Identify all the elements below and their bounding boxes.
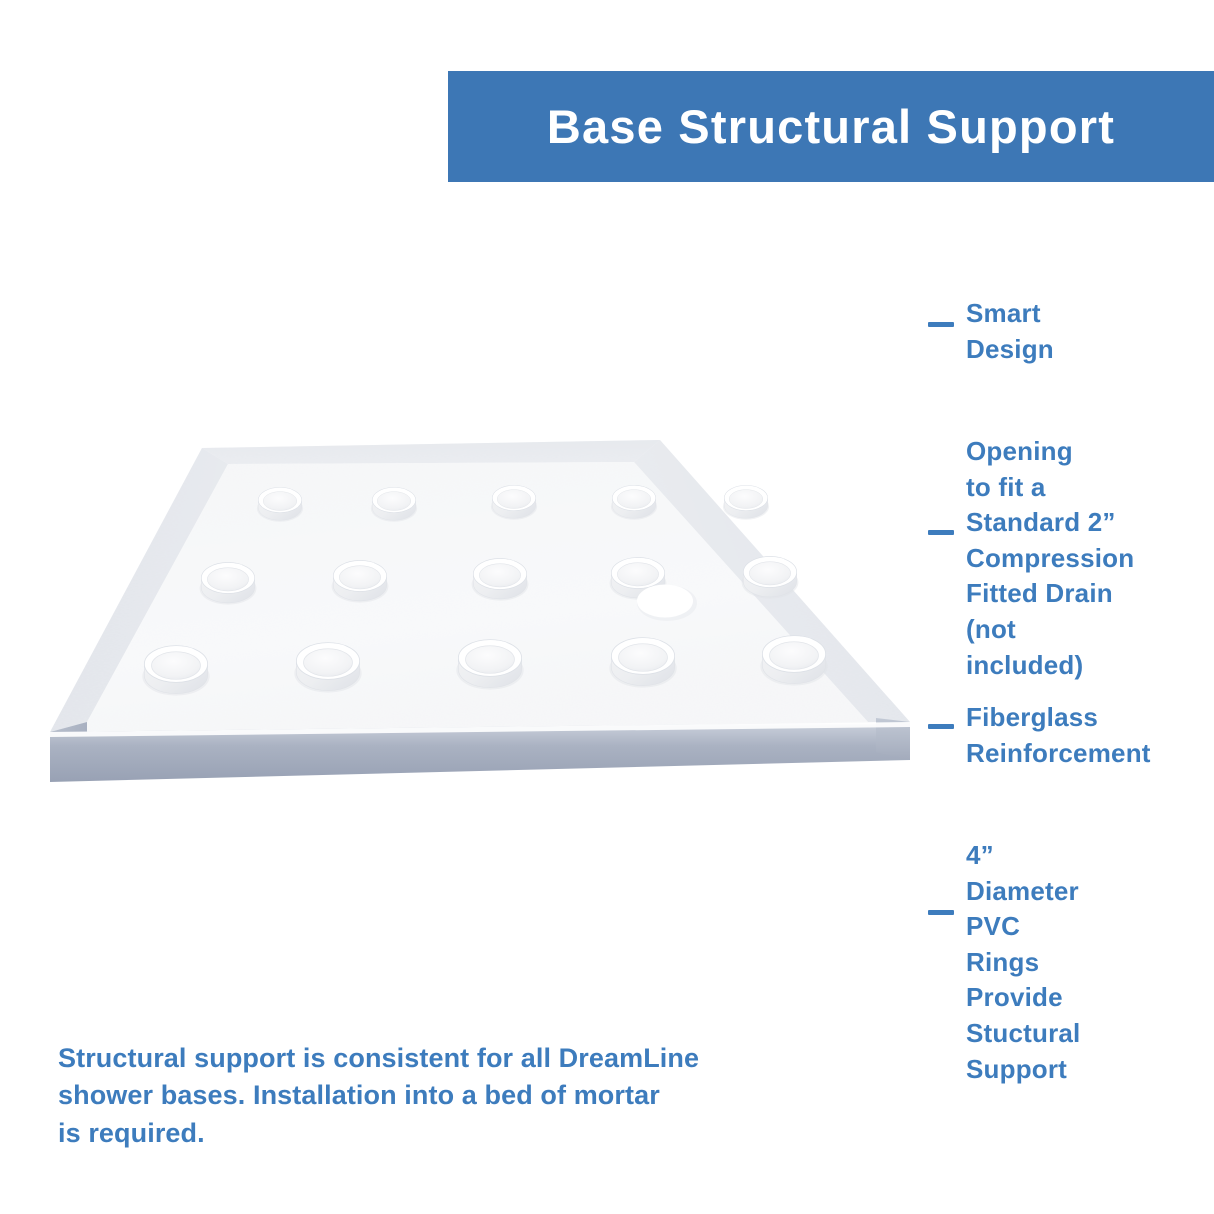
pvc-ring	[142, 646, 209, 696]
pvc-ring	[491, 485, 537, 519]
dash-marker-icon	[928, 322, 954, 327]
dash-marker-icon	[928, 724, 954, 729]
callout-drain-opening-label: Opening to fit a Standard 2” Compression…	[966, 434, 1134, 683]
footer-caption: Structural support is consistent for all…	[58, 1040, 818, 1152]
pvc-ring	[723, 485, 769, 519]
callout-pvc-rings-label: 4” Diameter PVC Rings Provide Stuctural …	[966, 838, 1080, 1087]
callout-smart-design-label: Smart Design	[966, 296, 1054, 367]
infographic-canvas: Base Structural Support	[0, 0, 1214, 1214]
pvc-ring	[472, 559, 529, 601]
pvc-ring	[609, 638, 676, 688]
pvc-ring	[332, 561, 389, 603]
pvc-ring	[760, 636, 827, 686]
pvc-ring	[456, 640, 523, 690]
header-banner: Base Structural Support	[448, 71, 1214, 182]
pvc-ring	[371, 487, 417, 521]
pvc-ring	[294, 643, 361, 693]
pvc-ring	[742, 557, 799, 599]
product-image-shower-base	[30, 430, 930, 810]
page-title: Base Structural Support	[547, 99, 1115, 154]
pvc-ring	[200, 563, 257, 605]
dash-marker-icon	[928, 910, 954, 915]
shower-base-illustration	[30, 430, 930, 810]
callout-fiberglass-label: Fiberglass Reinforcement	[966, 700, 1151, 771]
pvc-ring	[611, 485, 657, 519]
dash-marker-icon	[928, 530, 954, 535]
rim-back	[202, 440, 660, 464]
pvc-ring	[257, 487, 303, 521]
